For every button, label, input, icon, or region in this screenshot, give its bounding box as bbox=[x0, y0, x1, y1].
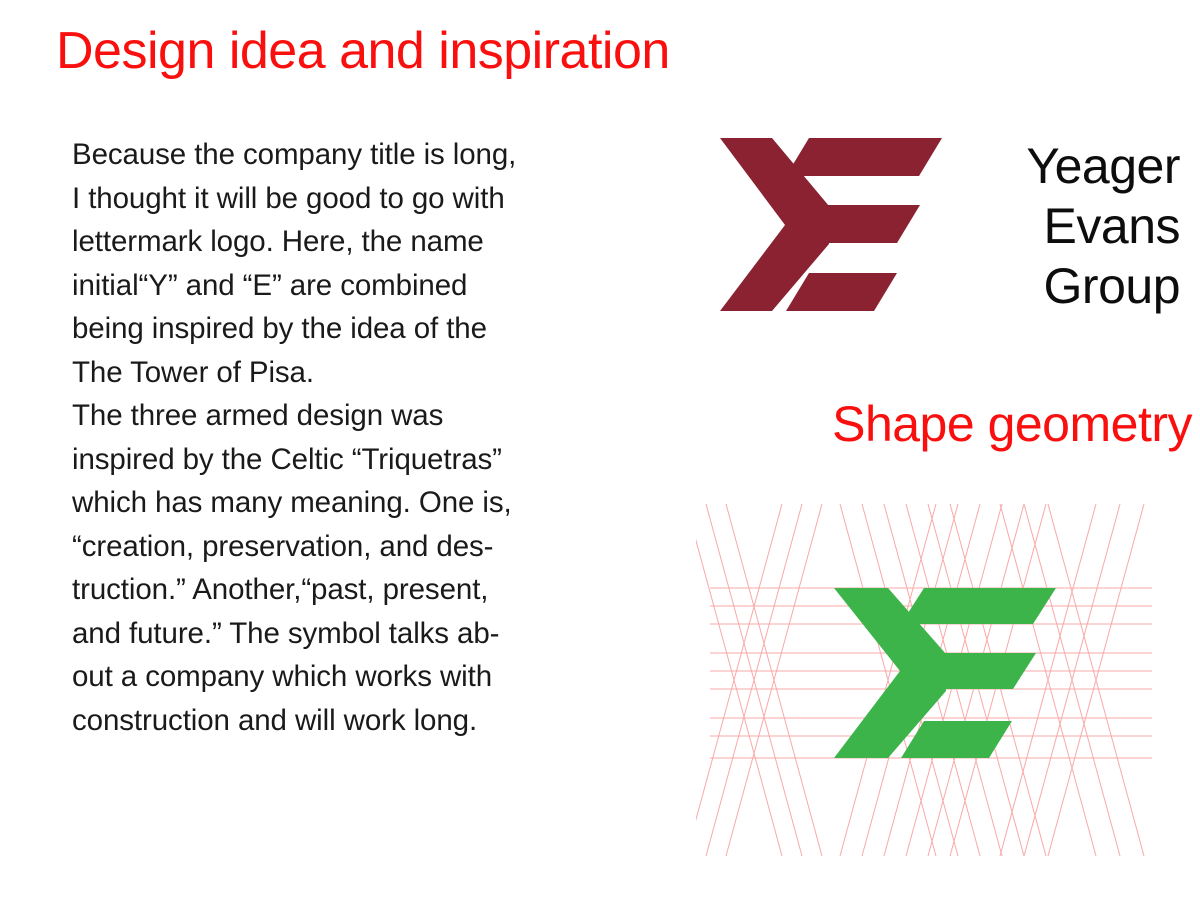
logo-wordmark-line-3: Group bbox=[1044, 256, 1180, 316]
logo-wordmark: Yeager Evans Group bbox=[942, 132, 1186, 316]
logo-wordmark-line-1: Yeager bbox=[1026, 136, 1180, 196]
logo-mark-icon bbox=[706, 132, 942, 317]
logo-lockup: Yeager Evans Group bbox=[706, 132, 1186, 317]
logo-mark-svg bbox=[706, 132, 942, 317]
logo-wordmark-line-2: Evans bbox=[1044, 196, 1180, 256]
logo-arm-top bbox=[786, 138, 942, 176]
description-paragraph: Because the company title is long, I tho… bbox=[72, 133, 662, 742]
geometry-arm-top bbox=[901, 588, 1056, 624]
geometry-shape-group bbox=[834, 588, 1056, 758]
description-text-block: Because the company title is long, I tho… bbox=[72, 133, 662, 742]
logo-arm-bottom bbox=[786, 273, 897, 311]
geometry-diagram bbox=[696, 478, 1196, 878]
page-title: Design idea and inspiration bbox=[56, 22, 670, 82]
section-title-shape-geometry: Shape geometry bbox=[832, 396, 1192, 454]
geometry-diagram-svg bbox=[696, 478, 1196, 878]
